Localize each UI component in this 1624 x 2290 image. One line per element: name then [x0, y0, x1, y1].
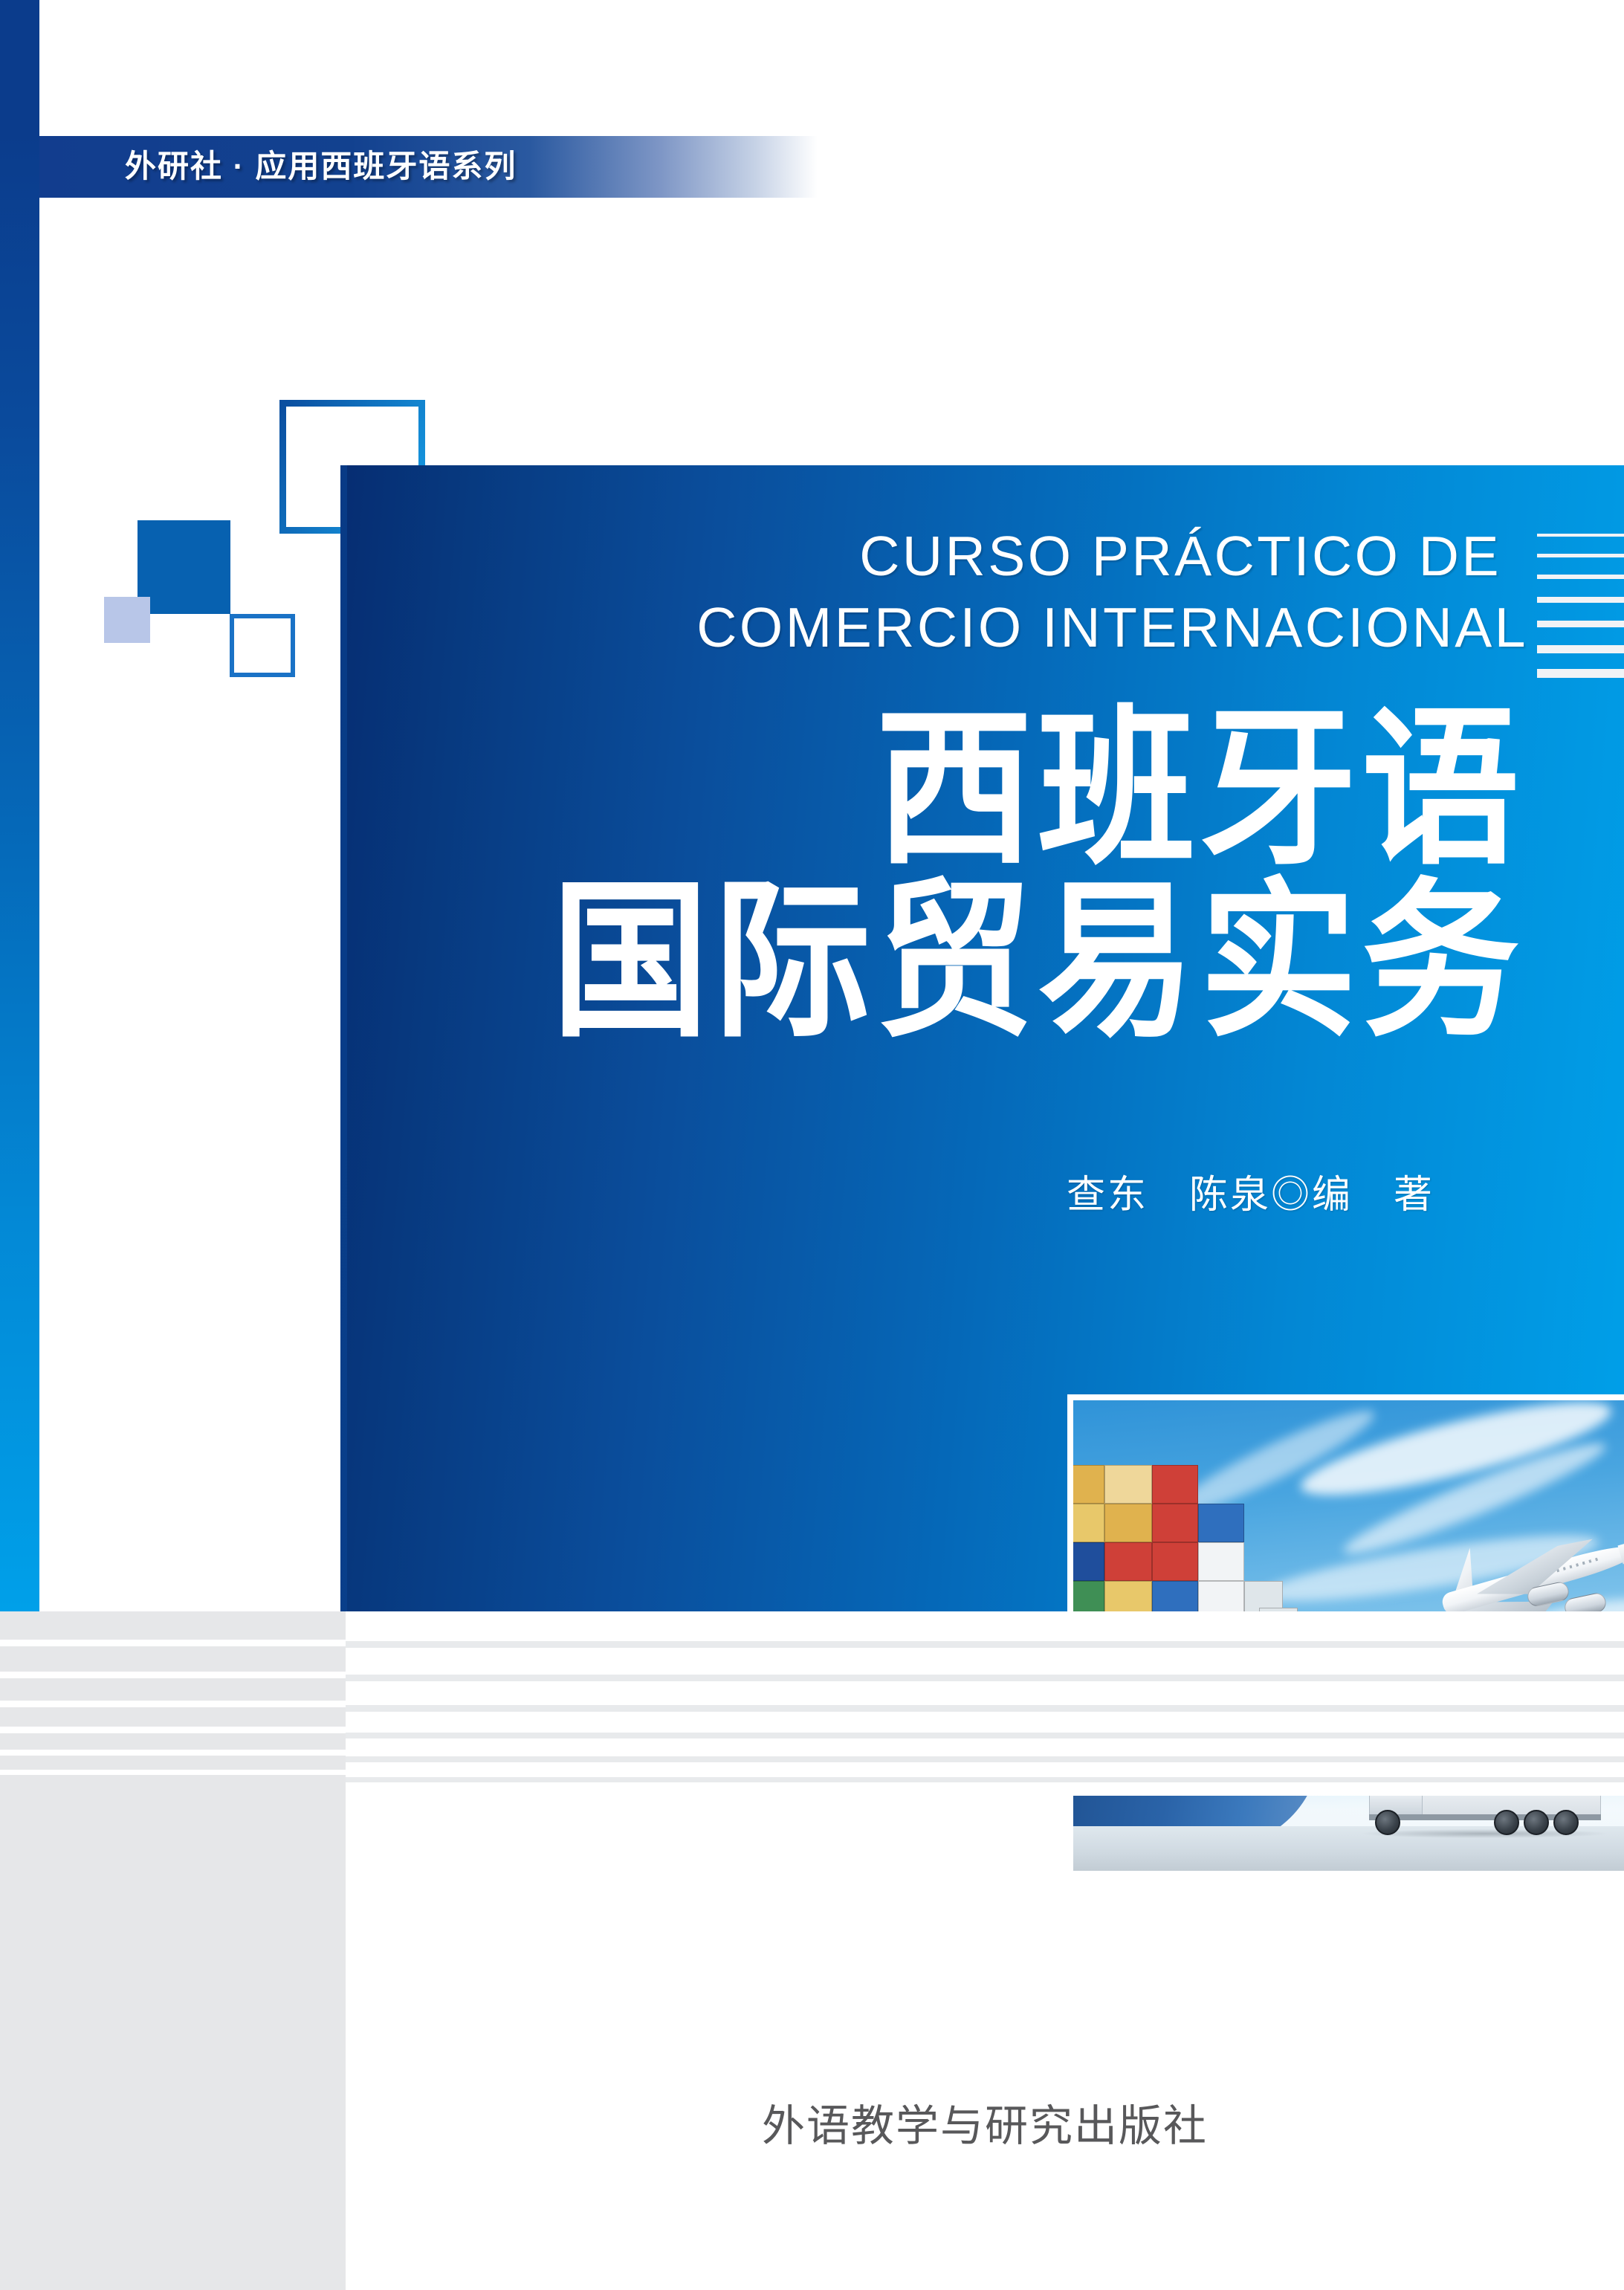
- series-banner-label: 外研社 · 应用西班牙语系列: [125, 143, 517, 190]
- decor-square-filled-medium: [138, 520, 230, 614]
- spanish-title-line1: CURSO PRÁCTICO DE: [340, 520, 1530, 592]
- main-title: 西班牙语 国际贸易实务: [340, 710, 1544, 1055]
- main-title-line2: 国际贸易实务: [340, 868, 1524, 1055]
- spanish-title: CURSO PRÁCTICO DE COMERCIO INTERNACIONAL: [340, 520, 1530, 663]
- stripe-band-left: [0, 1611, 346, 1775]
- publisher-name: 外语教学与研究出版社: [346, 2097, 1624, 2155]
- decor-square-lavender: [104, 597, 150, 643]
- decor-square-outline-small: [230, 614, 295, 677]
- stripe-band-right: [346, 1611, 1624, 1775]
- author-byline: 查东 陈泉◎编 著: [340, 1168, 1530, 1222]
- decor-rule-stack: [1537, 534, 1624, 675]
- left-spine-gradient-bar: [0, 0, 39, 1613]
- bottom-left-gray-column: [0, 1775, 346, 2290]
- main-title-line1: 西班牙语: [340, 696, 1524, 882]
- spanish-title-line2: COMERCIO INTERNACIONAL: [340, 592, 1530, 663]
- book-cover: 外研社 · 应用西班牙语系列 CURSO PRÁCTICO DE COMERCI…: [0, 0, 1624, 2290]
